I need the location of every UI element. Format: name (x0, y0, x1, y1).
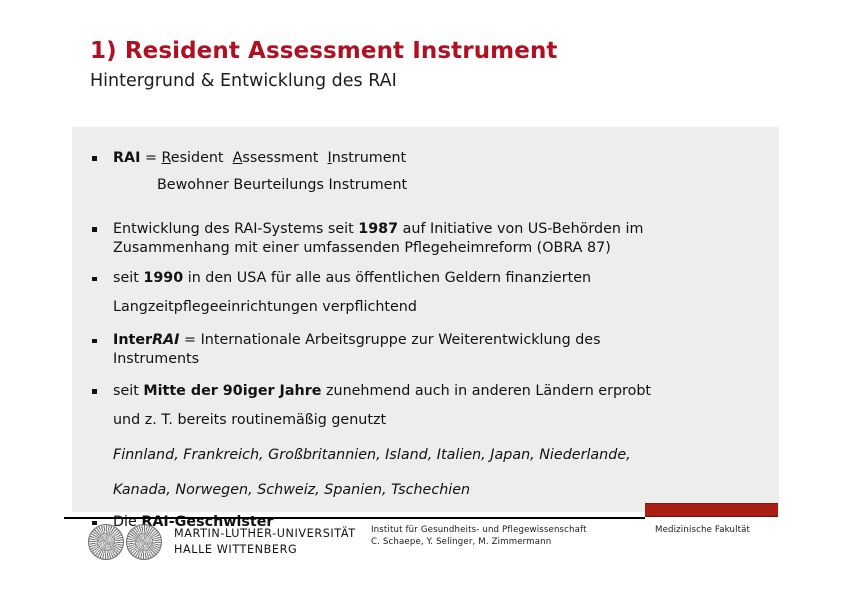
faculty-label: Medizinische Fakultät (655, 525, 750, 535)
content-panel: RAI = Resident Assessment Instrument Bew… (72, 127, 779, 512)
university-logo: MARTIN-LUTHER-UNIVERSITÄT HALLE WITTENBE… (88, 524, 356, 560)
bullet2-text-a: seit (113, 270, 143, 286)
bullet4-text-b: zunehmend auch in anderen Ländern erprob… (321, 383, 651, 399)
countries-line-2: Kanada, Norwegen, Schweiz, Spanien, Tsch… (72, 481, 779, 500)
bullet-marker-icon (92, 227, 97, 232)
footer-divider (64, 517, 645, 519)
bullet4-period: Mitte der 90iger Jahre (143, 383, 321, 399)
university-name: MARTIN-LUTHER-UNIVERSITÄT HALLE WITTENBE… (174, 526, 356, 558)
university-seal-icon (88, 524, 124, 560)
definition-translation: Bewohner Beurteilungs Instrument (72, 176, 779, 195)
definition-word3-rest: nstrument (332, 150, 406, 166)
bullet3-lead-bolditalic: RAI (152, 332, 179, 348)
bullet4-text-a: seit (113, 383, 143, 399)
definition-word2-rest: ssessment (242, 150, 318, 166)
bullet-marker-icon (92, 277, 97, 282)
university-seal-secondary-icon (126, 524, 162, 560)
list-item-definition: RAI = Resident Assessment Instrument (72, 149, 779, 168)
bullet1-text-b: auf Initiative von US-Behörden im (398, 221, 643, 237)
list-item-mid-nineties: seit Mitte der 90iger Jahre zunehmend au… (72, 382, 779, 401)
definition-abbrev: RAI (113, 150, 140, 166)
definition-word2-initial: A (233, 150, 243, 166)
list-item-usa-mandate: seit 1990 in den USA für alle aus öffent… (72, 269, 779, 288)
seal-pair (88, 524, 162, 560)
institute-credit: Institut für Gesundheits- und Pflegewiss… (371, 524, 587, 549)
institute-name: Institut für Gesundheits- und Pflegewiss… (371, 524, 587, 536)
bullet4-line2: und z. T. bereits routinemäßig genutzt (72, 411, 779, 430)
list-item-development: Entwicklung des RAI-Systems seit 1987 au… (72, 220, 779, 239)
definition-word1-initial: R (161, 150, 170, 166)
definition-word1-rest: esident (171, 150, 224, 166)
bullet1-text-a: Entwicklung des RAI-Systems seit (113, 221, 358, 237)
bullet-marker-icon (92, 339, 97, 344)
faculty-accent-bar (645, 503, 778, 517)
institute-authors: C. Schaepe, Y. Selinger, M. Zimmermann (371, 536, 587, 548)
bullet1-line2: Zusammenhang mit einer umfassenden Pfleg… (72, 239, 779, 258)
bullet2-text-b: in den USA für alle aus öffentlichen Gel… (183, 270, 591, 286)
title-block: 1) Resident Assessment Instrument Hinter… (90, 38, 790, 92)
university-name-line-2: HALLE WITTENBERG (174, 542, 356, 558)
bullet2-year: 1990 (143, 270, 183, 286)
bullet2-line2: Langzeitpflegeeinrichtungen verpflichten… (72, 298, 779, 317)
list-item-interrai: InterRAI = Internationale Arbeitsgruppe … (72, 331, 779, 350)
university-name-line-1: MARTIN-LUTHER-UNIVERSITÄT (174, 526, 356, 542)
bullet-marker-icon (92, 156, 97, 161)
bullet3-line2: Instruments (72, 350, 779, 369)
countries-line-1: Finnland, Frankreich, Großbritannien, Is… (72, 446, 779, 465)
bullet3-lead-bold: Inter (113, 332, 152, 348)
bullet-marker-icon (92, 389, 97, 394)
bullet1-year: 1987 (358, 221, 398, 237)
definition-equals: = (140, 150, 161, 166)
page-title: 1) Resident Assessment Instrument (90, 38, 790, 64)
page-subtitle: Hintergrund & Entwicklung des RAI (90, 71, 790, 91)
bullet3-text-b: = Internationale Arbeitsgruppe zur Weite… (180, 332, 601, 348)
